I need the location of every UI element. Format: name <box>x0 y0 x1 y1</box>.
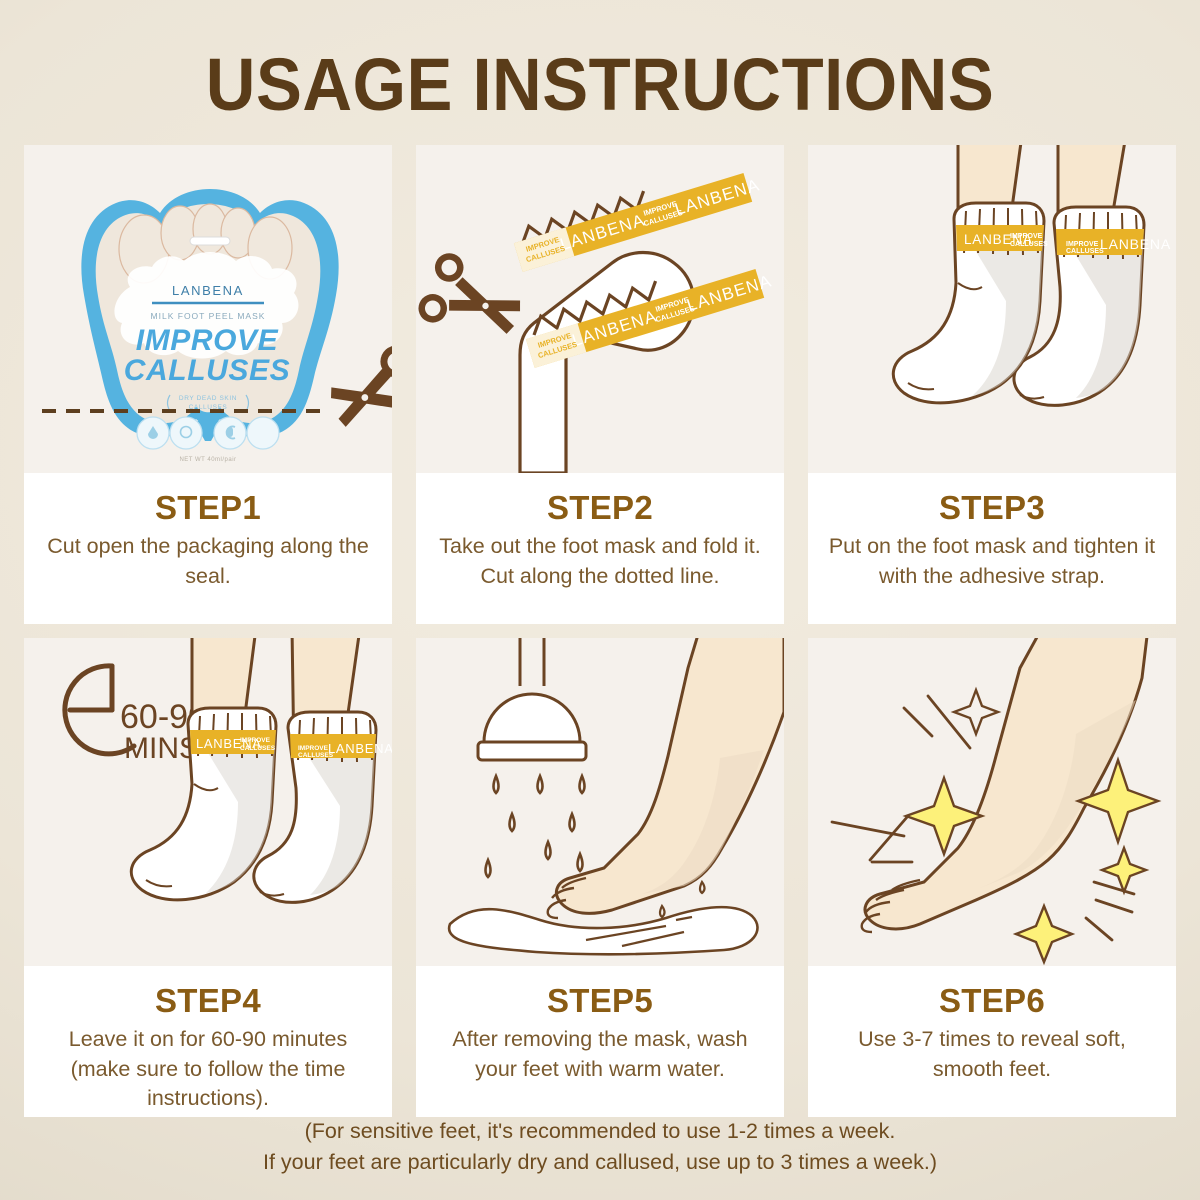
step5-caption: STEP5 After removing the mask, wash your… <box>416 966 784 1117</box>
step4-caption: STEP4 Leave it on for 60-90 minutes (mak… <box>24 966 392 1117</box>
svg-text:IMPROVE: IMPROVE <box>298 745 329 752</box>
adhesive-band-front: LANBENA IMPROVE CALLUSES <box>956 225 1048 251</box>
scissors-icon <box>323 346 392 442</box>
water-puddle <box>449 907 757 954</box>
package-product-text: MILK FOOT PEEL MASK <box>151 311 266 321</box>
footnote: (For sensitive feet, it's recommended to… <box>0 1116 1200 1178</box>
package-brand-text: LANBENA <box>172 283 244 298</box>
water-drops <box>486 776 585 877</box>
step6-title: STEP6 <box>826 982 1158 1020</box>
step4-title: STEP4 <box>42 982 374 1020</box>
shower-head-icon <box>478 638 586 760</box>
step-card-4: 60-90 MINS <box>24 638 392 1117</box>
svg-text:IMPROVE: IMPROVE <box>240 737 271 744</box>
step1-title: STEP1 <box>42 489 374 527</box>
step3-title: STEP3 <box>826 489 1158 527</box>
step6-text: Use 3-7 times to reveal soft, smooth fee… <box>826 1025 1158 1084</box>
step2-caption: STEP2 Take out the foot mask and fold it… <box>416 473 784 624</box>
package-headline-1: IMPROVE <box>136 324 279 357</box>
svg-text:LANBENA: LANBENA <box>328 741 392 756</box>
step-card-6: STEP6 Use 3-7 times to reveal soft, smoo… <box>808 638 1176 1117</box>
step6-caption: STEP6 Use 3-7 times to reveal soft, smoo… <box>808 966 1176 1117</box>
svg-text:DRY DEAD SKIN: DRY DEAD SKIN <box>179 395 237 402</box>
step5-title: STEP5 <box>434 982 766 1020</box>
step1-caption: STEP1 Cut open the packaging along the s… <box>24 473 392 624</box>
step-card-1: LANBENA MILK FOOT PEEL MASK IMPROVE CALL… <box>24 145 392 624</box>
package-hang-hole <box>190 237 230 245</box>
footnote-line-2: If your feet are particularly dry and ca… <box>0 1147 1200 1178</box>
svg-text:IMPROVE: IMPROVE <box>1010 233 1043 240</box>
svg-text:CALLUSES: CALLUSES <box>1010 241 1048 248</box>
scissors-icon <box>418 253 529 349</box>
step3-caption: STEP3 Put on the foot mask and tighten i… <box>808 473 1176 624</box>
page-title: USAGE INSTRUCTIONS <box>42 42 1158 127</box>
step4-text: Leave it on for 60-90 minutes (make sure… <box>42 1025 374 1114</box>
package-headline-2: CALLUSES <box>124 354 290 387</box>
step5-illustration <box>416 638 784 966</box>
footnote-line-1: (For sensitive feet, it's recommended to… <box>0 1116 1200 1147</box>
step2-title: STEP2 <box>434 489 766 527</box>
step6-illustration <box>808 638 1176 966</box>
step-card-5: STEP5 After removing the mask, wash your… <box>416 638 784 1117</box>
step2-illustration: LANBENA IMPROVE CALLUSES LANBENA IMPROVE… <box>416 145 784 473</box>
package-net-weight: NET WT 40ml/pair <box>179 457 236 463</box>
adhesive-band-back: IMPROVE CALLUSES LANBENA <box>1056 229 1171 255</box>
step4-illustration: 60-90 MINS <box>24 638 392 966</box>
step3-text: Put on the foot mask and tighten it with… <box>826 532 1158 591</box>
svg-text:LANBENA: LANBENA <box>1100 236 1171 252</box>
step-card-3: IMPROVE CALLUSES LANBENA <box>808 145 1176 624</box>
step1-illustration: LANBENA MILK FOOT PEEL MASK IMPROVE CALL… <box>24 145 392 473</box>
step3-illustration: IMPROVE CALLUSES LANBENA <box>808 145 1176 473</box>
steps-grid: LANBENA MILK FOOT PEEL MASK IMPROVE CALL… <box>24 145 1176 1117</box>
svg-text:CALLUSES: CALLUSES <box>240 745 276 752</box>
poster-background: USAGE INSTRUCTIONS <box>0 0 1200 1200</box>
step-card-2: LANBENA IMPROVE CALLUSES LANBENA IMPROVE… <box>416 145 784 624</box>
step1-text: Cut open the packaging along the seal. <box>42 532 374 591</box>
step5-text: After removing the mask, wash your feet … <box>434 1025 766 1084</box>
svg-text:IMPROVE: IMPROVE <box>1066 241 1099 248</box>
svg-text:CALLUSES: CALLUSES <box>1066 248 1104 255</box>
step2-text: Take out the foot mask and fold it. Cut … <box>434 532 766 591</box>
adhesive-band-front: LANBENA IMPROVE CALLUSES <box>190 730 276 754</box>
